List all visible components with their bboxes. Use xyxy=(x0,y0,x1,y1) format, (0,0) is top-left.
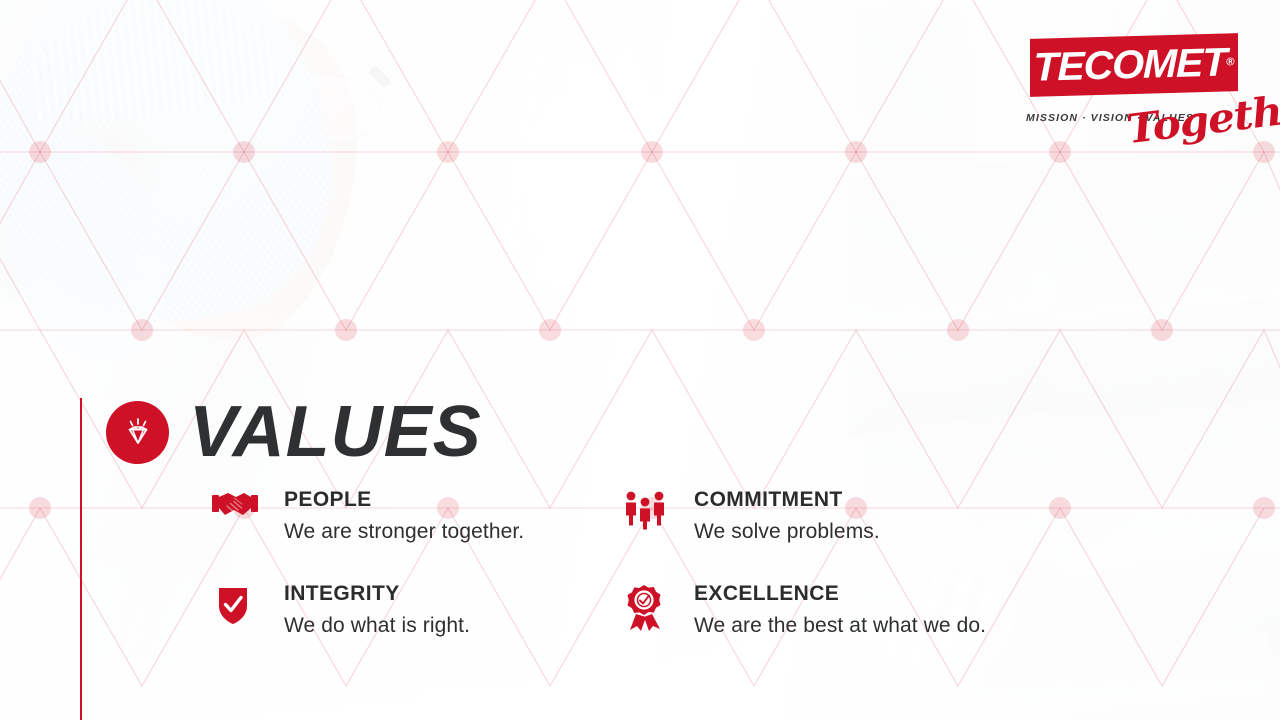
value-item-people[interactable]: PEOPLE We are stronger together. xyxy=(212,488,622,544)
value-heading: PEOPLE xyxy=(284,488,622,511)
value-body: PEOPLE We are stronger together. xyxy=(274,488,622,544)
award-ribbon-icon xyxy=(622,584,668,632)
value-item-integrity[interactable]: INTEGRITY We do what is right. xyxy=(212,582,622,638)
page-title: VALUES xyxy=(189,396,482,468)
values-grid: PEOPLE We are stronger together. xyxy=(212,488,1042,638)
people-group-icon xyxy=(622,490,668,530)
page-title-row: VALUES xyxy=(106,396,482,468)
value-icon-slot xyxy=(622,582,670,632)
title-badge xyxy=(106,401,169,464)
logo-wordmark: TECOMET® xyxy=(1027,33,1241,97)
value-body: EXCELLENCE We are the best at what we do… xyxy=(684,582,1042,638)
value-body: COMMITMENT We solve problems. xyxy=(684,488,1042,544)
value-icon-slot xyxy=(622,488,670,538)
values-slide: TECOMET® MISSION · VISION · VALUES Toget… xyxy=(0,0,1280,720)
value-icon-slot xyxy=(212,582,260,632)
value-description: We do what is right. xyxy=(284,614,622,638)
registered-trademark-icon: ® xyxy=(1226,56,1234,68)
value-description: We are stronger together. xyxy=(284,520,622,544)
value-description: We solve problems. xyxy=(694,520,1042,544)
value-heading: COMMITMENT xyxy=(694,488,1042,511)
value-heading: INTEGRITY xyxy=(284,582,622,605)
tecomet-logo[interactable]: TECOMET® MISSION · VISION · VALUES Toget… xyxy=(1020,36,1240,141)
value-item-excellence[interactable]: EXCELLENCE We are the best at what we do… xyxy=(622,582,1042,638)
value-description: We are the best at what we do. xyxy=(694,614,1042,638)
value-heading: EXCELLENCE xyxy=(694,582,1042,605)
value-item-commitment[interactable]: COMMITMENT We solve problems. xyxy=(622,488,1042,544)
diamond-icon xyxy=(121,415,155,449)
value-icon-slot xyxy=(212,488,260,538)
left-red-rule xyxy=(80,398,82,720)
handshake-icon xyxy=(212,490,258,524)
value-body: INTEGRITY We do what is right. xyxy=(274,582,622,638)
logo-wordmark-text: TECOMET xyxy=(1033,40,1226,90)
logo-red-banner: TECOMET® xyxy=(1030,33,1238,97)
shield-check-icon xyxy=(212,584,254,628)
